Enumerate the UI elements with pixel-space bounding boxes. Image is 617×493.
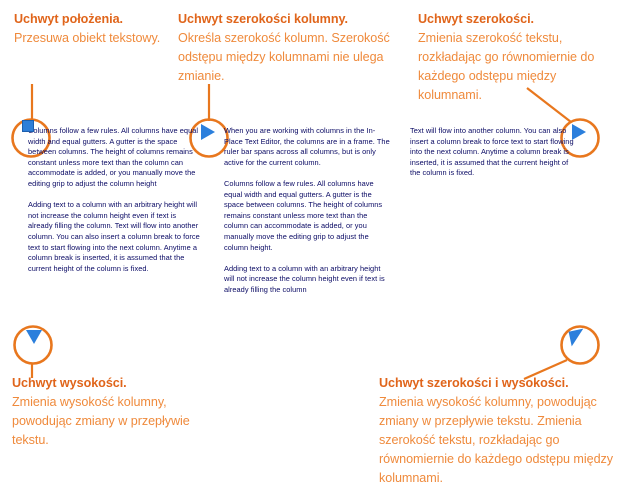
- callout-width-and-height: Uchwyt szerokości i wysokości. Zmienia w…: [379, 374, 617, 488]
- paragraph: Text will flow into another column. You …: [410, 126, 578, 179]
- callout-column-width: Uchwyt szerokości kolumny. Określa szero…: [178, 10, 403, 86]
- callout-width-title: Uchwyt szerokości.: [418, 10, 613, 29]
- callout-position: Uchwyt położenia. Przesuwa obiekt teksto…: [14, 10, 174, 48]
- callout-column-width-body: Określa szerokość kolumn. Szerokość odst…: [178, 29, 403, 86]
- triangle-down-grip-shape[interactable]: [26, 330, 42, 344]
- callout-height-body: Zmienia wysokość kolumny, powodując zmia…: [12, 393, 212, 450]
- callout-column-width-title: Uchwyt szerokości kolumny.: [178, 10, 403, 29]
- paragraph: Adding text to a column with an arbitrar…: [28, 200, 200, 274]
- callout-height: Uchwyt wysokości. Zmienia wysokość kolum…: [12, 374, 212, 450]
- paragraph: Adding text to a column with an arbitrar…: [224, 264, 392, 296]
- callout-width-body: Zmienia szerokość tekstu, rozkładając go…: [418, 29, 613, 105]
- callout-height-title: Uchwyt wysokości.: [12, 374, 212, 393]
- text-column-3: Text will flow into another column. You …: [410, 126, 578, 190]
- paragraph: Columns follow a few rules. All columns …: [28, 126, 200, 190]
- text-column-2: When you are working with columns in the…: [224, 126, 392, 306]
- callout-width-and-height-body: Zmienia wysokość kolumny, powodując zmia…: [379, 393, 617, 488]
- square-grip-shape[interactable]: [22, 120, 34, 132]
- triangle-right-grip-shape[interactable]: [572, 124, 586, 140]
- callout-position-body: Przesuwa obiekt tekstowy.: [14, 29, 174, 48]
- text-column-1: Columns follow a few rules. All columns …: [28, 126, 200, 285]
- triangle-diagonal-grip-shape[interactable]: [569, 329, 587, 347]
- callout-position-title: Uchwyt położenia.: [14, 10, 174, 29]
- callout-width: Uchwyt szerokości. Zmienia szerokość tek…: [418, 10, 613, 105]
- triangle-right-grip-shape[interactable]: [201, 124, 215, 140]
- paragraph: Columns follow a few rules. All columns …: [224, 179, 392, 253]
- callout-width-and-height-title: Uchwyt szerokości i wysokości.: [379, 374, 617, 393]
- paragraph: When you are working with columns in the…: [224, 126, 392, 168]
